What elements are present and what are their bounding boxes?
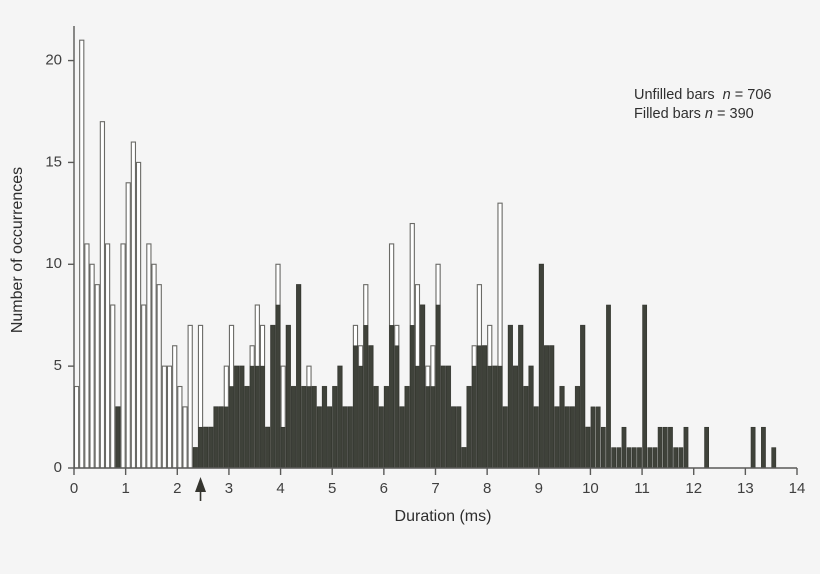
- histogram-bar-filled: [596, 407, 600, 468]
- histogram-bar-filled: [622, 427, 626, 468]
- histogram-bar-filled: [322, 387, 326, 468]
- histogram-bar-filled: [116, 407, 120, 468]
- histogram-bar-filled: [612, 448, 616, 468]
- histogram-bar-filled: [493, 366, 497, 468]
- histogram-bar-filled: [312, 387, 316, 468]
- histogram-bar-unfilled: [162, 366, 166, 468]
- histogram-bar-filled: [575, 387, 579, 468]
- histogram-bar-filled: [591, 407, 595, 468]
- histogram-bar-unfilled: [131, 142, 135, 468]
- y-axis-title: Number of occurrences: [9, 167, 26, 333]
- histogram-bar-filled: [219, 407, 223, 468]
- legend-unfilled-count: = 706: [735, 87, 772, 103]
- histogram-bar-filled: [601, 427, 605, 468]
- histogram-bar-filled: [457, 407, 461, 468]
- x-tick-label: 2: [173, 480, 181, 497]
- histogram-bar-filled: [374, 387, 378, 468]
- legend-filled-count: = 390: [717, 106, 754, 122]
- histogram-bar-filled: [410, 325, 414, 468]
- histogram-bar-filled: [451, 407, 455, 468]
- histogram-bar-filled: [446, 366, 450, 468]
- histogram-bar-unfilled: [75, 387, 79, 468]
- histogram-bar-filled: [307, 387, 311, 468]
- histogram-bar-filled: [415, 366, 419, 468]
- histogram-bar-filled: [606, 305, 610, 468]
- histogram-bar-filled: [648, 448, 652, 468]
- histogram-bar-filled: [266, 427, 270, 468]
- histogram-bar-unfilled: [136, 162, 140, 468]
- histogram-bar-unfilled: [173, 346, 177, 468]
- histogram-bar-filled: [271, 325, 275, 468]
- y-tick-label: 5: [54, 357, 62, 374]
- x-tick-label: 12: [685, 480, 702, 497]
- histogram-bar-filled: [663, 427, 667, 468]
- x-tick-label: 0: [70, 480, 78, 497]
- histogram-bar-filled: [245, 387, 249, 468]
- x-tick-label: 3: [225, 480, 233, 497]
- histogram-bar-filled: [477, 346, 481, 468]
- histogram-bar-unfilled: [147, 244, 151, 468]
- legend-filled-label: Filled bars: [634, 106, 701, 122]
- x-tick-label: 8: [483, 480, 491, 497]
- histogram-bar-filled: [668, 427, 672, 468]
- y-tick-label: 10: [45, 255, 62, 272]
- histogram-bar-filled: [426, 387, 430, 468]
- histogram-bar-unfilled: [95, 285, 99, 468]
- histogram-bar-filled: [482, 346, 486, 468]
- x-tick-label: 1: [121, 480, 129, 497]
- histogram-bar-filled: [617, 448, 621, 468]
- histogram-bar-unfilled: [152, 264, 156, 468]
- histogram-bar-filled: [462, 448, 466, 468]
- histogram-bar-filled: [519, 325, 523, 468]
- histogram-bar-unfilled: [111, 305, 115, 468]
- histogram-bar-filled: [643, 305, 647, 468]
- histogram-bar-filled: [436, 305, 440, 468]
- histogram-figure: 0510152001234567891011121314 Duration (m…: [0, 0, 820, 574]
- histogram-bar-filled: [224, 407, 228, 468]
- histogram-bar-filled: [369, 346, 373, 468]
- histogram-bar-filled: [250, 366, 254, 468]
- histogram-bar-filled: [255, 366, 259, 468]
- histogram-bar-unfilled: [188, 325, 192, 468]
- x-tick-label: 5: [328, 480, 336, 497]
- histogram-bar-filled: [508, 325, 512, 468]
- histogram-bar-filled: [209, 427, 213, 468]
- histogram-bar-filled: [359, 366, 363, 468]
- histogram-bar-filled: [472, 366, 476, 468]
- histogram-bar-filled: [286, 325, 290, 468]
- histogram-bar-unfilled: [178, 387, 182, 468]
- histogram-bar-unfilled: [167, 366, 171, 468]
- legend-unfilled-label: Unfilled bars: [634, 87, 715, 103]
- histogram-bar-filled: [524, 387, 528, 468]
- histogram-bar-filled: [705, 427, 709, 468]
- histogram-bar-filled: [684, 427, 688, 468]
- histogram-bar-filled: [550, 346, 554, 468]
- histogram-bar-filled: [586, 427, 590, 468]
- histogram-bar-filled: [637, 448, 641, 468]
- histogram-bar-filled: [627, 448, 631, 468]
- histogram-bar-unfilled: [105, 244, 109, 468]
- x-tick-label: 6: [380, 480, 388, 497]
- y-tick-label: 0: [54, 459, 62, 476]
- histogram-bar-filled: [343, 407, 347, 468]
- legend-unfilled-n-symbol: n: [723, 87, 731, 103]
- histogram-bar-unfilled: [80, 40, 84, 468]
- histogram-bar-filled: [534, 407, 538, 468]
- histogram-bar-filled: [384, 387, 388, 468]
- histogram-bar-filled: [281, 427, 285, 468]
- histogram-bar-filled: [328, 407, 332, 468]
- histogram-bar-filled: [260, 366, 264, 468]
- histogram-bar-filled: [390, 325, 394, 468]
- x-tick-label: 4: [276, 480, 284, 497]
- legend: Unfilled bars n = 706 Filled bars n = 39…: [634, 86, 771, 124]
- histogram-bar-filled: [291, 387, 295, 468]
- histogram-bar-filled: [317, 407, 321, 468]
- histogram-bar-filled: [204, 427, 208, 468]
- histogram-bar-filled: [658, 427, 662, 468]
- histogram-bar-filled: [353, 346, 357, 468]
- histogram-bar-filled: [467, 387, 471, 468]
- histogram-bar-filled: [581, 325, 585, 468]
- histogram-bar-filled: [539, 264, 543, 468]
- histogram-bar-filled: [297, 285, 301, 468]
- histogram-bar-filled: [214, 407, 218, 468]
- histogram-bar-filled: [379, 407, 383, 468]
- x-axis-title: Duration (ms): [395, 508, 492, 525]
- threshold-arrow-marker: [195, 477, 206, 501]
- histogram-bar-filled: [229, 387, 233, 468]
- histogram-bar-filled: [565, 407, 569, 468]
- histogram-bar-filled: [498, 366, 502, 468]
- histogram-bar-filled: [632, 448, 636, 468]
- histogram-bar-filled: [679, 448, 683, 468]
- histogram-bar-unfilled: [126, 183, 130, 468]
- x-tick-label: 13: [737, 480, 754, 497]
- histogram-bar-filled: [235, 366, 239, 468]
- histogram-bar-filled: [513, 366, 517, 468]
- histogram-bar-unfilled: [100, 122, 104, 468]
- histogram-bar-filled: [240, 366, 244, 468]
- histogram-bar-filled: [761, 427, 765, 468]
- legend-row-unfilled: Unfilled bars n = 706: [634, 86, 771, 105]
- histogram-bar-filled: [529, 366, 533, 468]
- histogram-bar-filled: [488, 366, 492, 468]
- y-tick-label: 20: [45, 52, 62, 69]
- histogram-bar-filled: [653, 448, 657, 468]
- y-tick-label: 15: [45, 153, 62, 170]
- histogram-bar-filled: [364, 325, 368, 468]
- histogram-bar-filled: [405, 387, 409, 468]
- histogram-bar-unfilled: [157, 285, 161, 468]
- histogram-bar-filled: [555, 407, 559, 468]
- histogram-bar-filled: [544, 346, 548, 468]
- histogram-bar-filled: [333, 387, 337, 468]
- x-tick-label: 9: [535, 480, 543, 497]
- histogram-bar-filled: [674, 448, 678, 468]
- histogram-bar-filled: [441, 366, 445, 468]
- x-tick-label: 11: [634, 480, 650, 497]
- histogram-bar-filled: [395, 346, 399, 468]
- histogram-bar-unfilled: [142, 305, 146, 468]
- histogram-bar-filled: [198, 427, 202, 468]
- histogram-bar-filled: [560, 387, 564, 468]
- histogram-bar-unfilled: [90, 264, 94, 468]
- histogram-bar-filled: [570, 407, 574, 468]
- x-tick-label: 7: [431, 480, 439, 497]
- histogram-bar-unfilled: [85, 244, 89, 468]
- x-tick-label: 10: [582, 480, 599, 497]
- legend-row-filled: Filled bars n = 390: [634, 105, 771, 124]
- histogram-bar-filled: [348, 407, 352, 468]
- arrow-head-icon: [195, 477, 206, 492]
- histogram-bar-filled: [431, 387, 435, 468]
- histogram-bar-filled: [276, 305, 280, 468]
- histogram-bar-filled: [772, 448, 776, 468]
- histogram-bar-filled: [338, 366, 342, 468]
- legend-filled-n-symbol: n: [705, 106, 713, 122]
- histogram-bar-filled: [421, 305, 425, 468]
- histogram-bar-unfilled: [121, 244, 125, 468]
- histogram-bar-filled: [193, 448, 197, 468]
- histogram-bar-filled: [751, 427, 755, 468]
- x-tick-label: 14: [789, 480, 806, 497]
- histogram-bar-unfilled: [183, 407, 187, 468]
- histogram-bar-filled: [302, 387, 306, 468]
- histogram-bar-filled: [400, 407, 404, 468]
- histogram-bar-filled: [503, 407, 507, 468]
